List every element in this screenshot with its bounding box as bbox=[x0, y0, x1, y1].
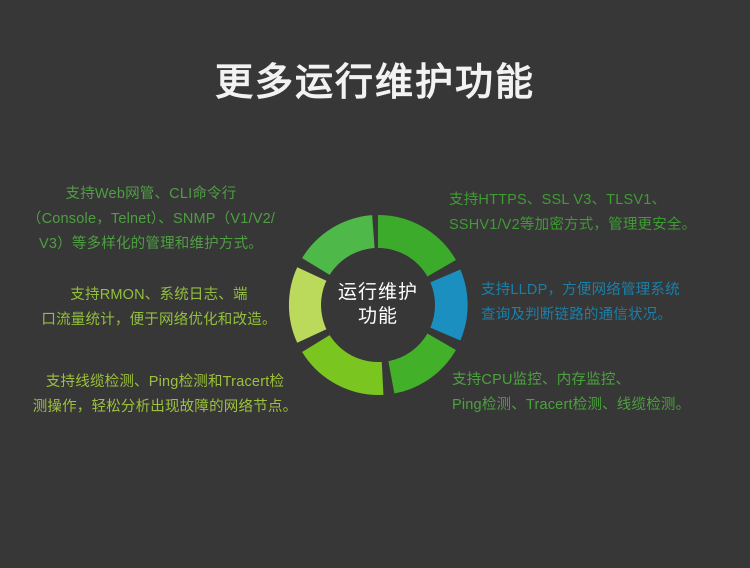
callout-management: 支持Web网管、CLI命令行 （Console，Telnet）、SNMP（V1/… bbox=[10, 182, 292, 257]
callout-diagnostics: 支持线缆检测、Ping检测和Tracert检 测操作，轻松分析出现故障的网络节点… bbox=[8, 370, 322, 420]
slide-canvas: 更多运行维护功能 运行维护 功能 支持W bbox=[0, 0, 750, 568]
page-title: 更多运行维护功能 bbox=[0, 61, 750, 107]
callout-monitor: 支持CPU监控、内存监控、 Ping检测、Tracert检测、线缆检测。 bbox=[452, 368, 742, 418]
callout-security: 支持HTTPS、SSL V3、TLSV1、 SSHV1/V2等加密方式，管理更安… bbox=[449, 188, 739, 238]
donut-segment-statistics[interactable] bbox=[305, 274, 312, 336]
donut-segment-lldp[interactable] bbox=[445, 276, 451, 334]
callout-statistics: 支持RMON、系统日志、端 口流量统计，便于网络优化和改造。 bbox=[34, 283, 284, 333]
callout-lldp: 支持LLDP，方便网络管理系统 查询及判断链路的通信状况。 bbox=[481, 278, 743, 328]
donut-center-hole bbox=[321, 248, 435, 362]
donut-svg bbox=[288, 215, 468, 395]
operations-donut-chart: 运行维护 功能 bbox=[288, 215, 468, 395]
